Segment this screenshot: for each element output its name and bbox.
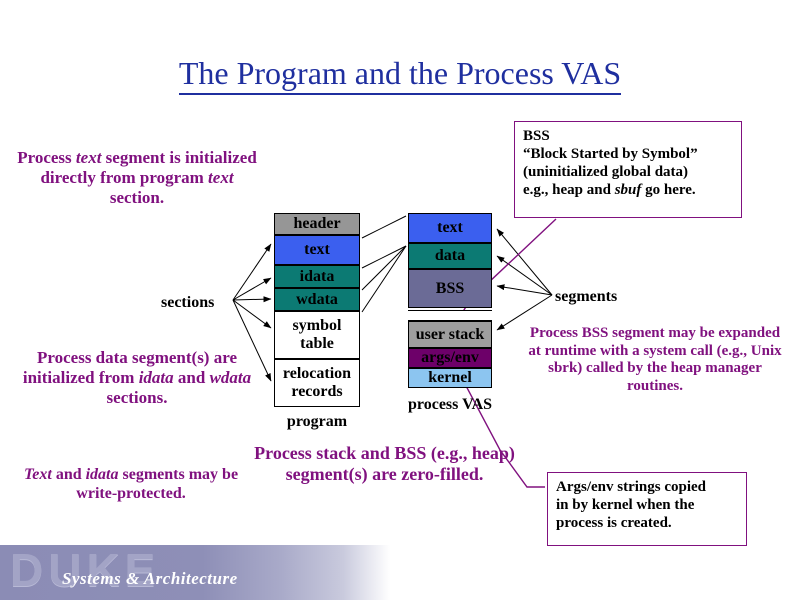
footer-subtitle: Systems & Architecture (62, 569, 238, 589)
note-data-segment-body: Process data segment(s) are initialized … (23, 348, 251, 407)
program-segment-relocation-records: relocationrecords (274, 359, 360, 407)
callout-args-line1: Args/env strings copied (556, 478, 738, 496)
callout-bss-line4-em: sbuf (615, 182, 642, 198)
callout-args-line2: in by kernel when the (556, 496, 738, 514)
callout-args-line3: process is created. (556, 514, 738, 532)
program-segment-idata: idata (274, 265, 360, 288)
note-data-segment: Process data segment(s) are initialized … (12, 348, 262, 408)
page-title: The Program and the Process VAS (0, 55, 800, 92)
vas-segment-data: data (408, 243, 492, 269)
vas-segment-user-stack: user stack (408, 321, 492, 348)
label-sections: sections (161, 294, 214, 312)
program-segment-header: header (274, 213, 360, 235)
label-segments: segments (555, 288, 617, 306)
vas-column-label: process VAS (408, 396, 492, 414)
callout-bss-line2: “Block Started by Symbol” (523, 145, 733, 163)
note-bss-expand-body: Process BSS segment may be expanded at r… (528, 325, 781, 394)
note-bss-expand: Process BSS segment may be expanded at r… (524, 325, 786, 396)
vas-segment-kernel: kernel (408, 368, 492, 388)
vas-segment-text: text (408, 213, 492, 243)
callout-args-env: Args/env strings copied in by kernel whe… (547, 472, 747, 546)
note-write-protected-body: Text and idata segments may be write-pro… (24, 466, 238, 502)
note-text-segment: Process text segment is initialized dire… (12, 148, 262, 208)
note-zero-filled-body: Process stack and BSS (e.g., heap) segme… (254, 443, 515, 484)
slide-canvas: The Program and the Process VAS (0, 0, 800, 600)
program-segment-text: text (274, 235, 360, 265)
segments-fan-arrows (497, 229, 552, 330)
callout-bss-line1: BSS (523, 127, 733, 145)
vas-segment-gap (408, 310, 492, 321)
vas-segment-bss: BSS (408, 269, 492, 308)
callout-bss-line3: (uninitialized global data) (523, 163, 733, 181)
callout-bss-line4-pre: e.g., heap and (523, 182, 615, 198)
callout-bss: BSS “Block Started by Symbol” (uninitial… (514, 121, 742, 218)
page-title-text: The Program and the Process VAS (179, 55, 621, 95)
note-zero-filled: Process stack and BSS (e.g., heap) segme… (252, 443, 517, 485)
note-write-protected: Text and idata segments may be write-pro… (6, 466, 256, 504)
program-segment-wdata: wdata (274, 288, 360, 311)
footer-banner: DUKE Systems & Architecture (0, 545, 390, 600)
callout-bss-line4: e.g., heap and sbuf go here. (523, 181, 733, 199)
vas-segment-args-env: args/env (408, 348, 492, 368)
program-column-label: program (274, 413, 360, 431)
program-segment-symbol-table: symboltable (274, 311, 360, 359)
program-to-vas-lines (362, 216, 406, 312)
note-text-segment-body: Process text segment is initialized dire… (17, 148, 257, 207)
callout-bss-line4-post: go here. (641, 182, 695, 198)
